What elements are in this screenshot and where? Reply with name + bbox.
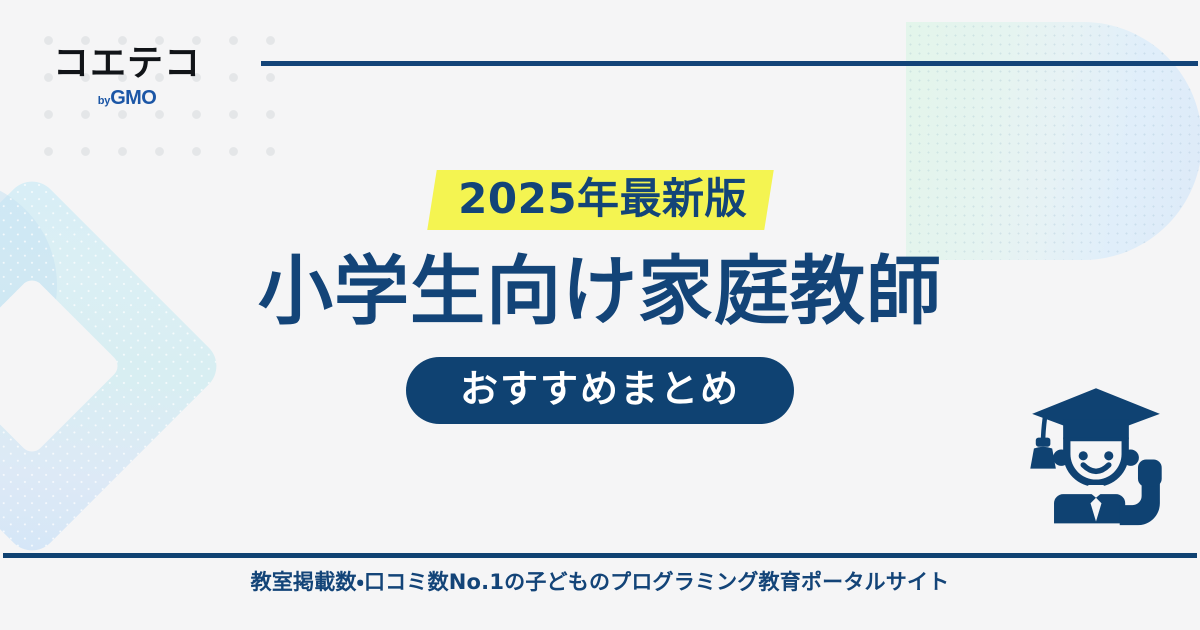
year-badge-label: 2025年最新版 [458,178,747,220]
logo-by-label: by [98,96,110,107]
site-logo: コエテコ by GMO [49,46,205,108]
year-badge: 2025年最新版 [427,170,773,230]
headline-block: 2025年最新版 小学生向け家庭教師 おすすめまとめ [0,170,1200,424]
graduate-icon [1023,381,1169,527]
logo-byline: by GMO [49,88,205,108]
status-badge: おすすめまとめ [406,357,794,424]
logo-gmo-label: GMO [110,88,156,108]
footer-divider-rule [3,553,1197,558]
page-title: 小学生向け家庭教師 [0,252,1200,331]
status-badge-label: おすすめまとめ [460,367,740,411]
logo-wordmark: コエテコ [49,46,205,82]
footer-tagline: 教室掲載数・口コミ数No.1の子どものプログラミング教育ポータルサイト [0,568,1200,597]
og-image-canvas: コエテコ by GMO 2025年最新版 小学生向け家庭教師 おすすめまとめ [0,0,1200,630]
top-divider-rule [261,61,1198,66]
